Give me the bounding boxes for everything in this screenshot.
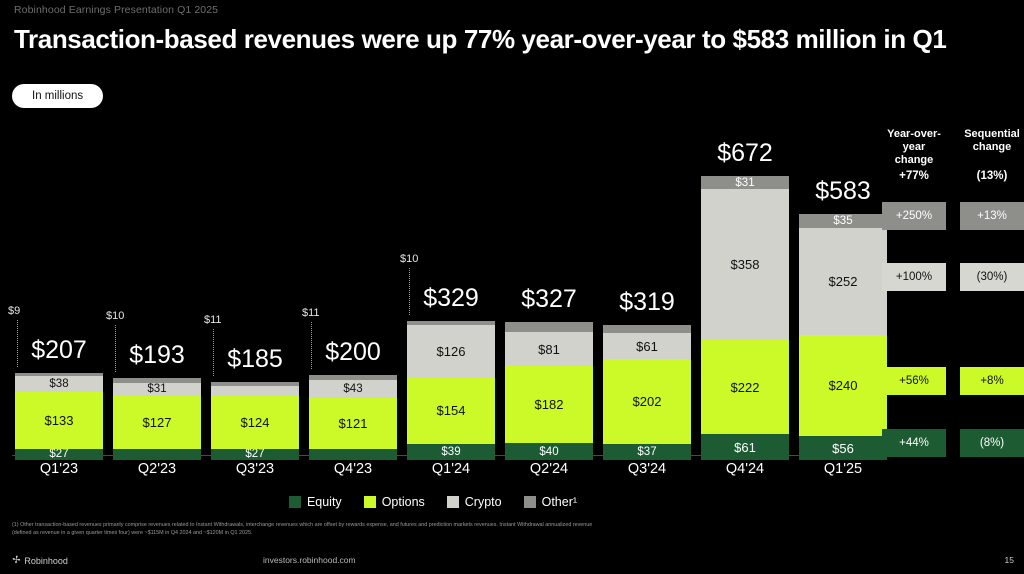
bar-segment-options: $127 <box>113 396 201 450</box>
bar-segment-crypto: $31 <box>113 383 201 396</box>
bar-segment-crypto <box>211 386 299 396</box>
bar-segment-other <box>505 322 593 332</box>
other-segment-callout: $10 <box>400 253 418 265</box>
bar-segment-other: $31 <box>701 176 789 189</box>
footnote: (1) Other transaction-based revenues pri… <box>12 521 602 537</box>
slide-footer: ✢ Robinhood investors.robinhood.com 15 <box>0 552 1024 574</box>
legend-label: Equity <box>307 495 342 509</box>
x-axis-label: Q3'24 <box>628 461 666 477</box>
bar-segment-options: $133 <box>15 392 103 448</box>
legend-swatch-icon <box>524 496 536 508</box>
x-axis-label: Q2'23 <box>138 461 176 477</box>
bar-segment-equity <box>113 449 201 460</box>
bar-segment-other <box>309 375 397 380</box>
bar-total-label: $319 <box>619 288 675 317</box>
bar-segment-equity: $40 <box>505 443 593 460</box>
yoy-total-value: +77% <box>882 170 946 182</box>
bar-segment-equity: $61 <box>701 434 789 460</box>
callout-leader-line <box>17 320 18 367</box>
x-axis-label: Q3'23 <box>236 461 274 477</box>
bar-segment-options: $154 <box>407 378 495 443</box>
stacked-bar: $121$43 <box>309 375 397 460</box>
bar-segment-crypto: $358 <box>701 189 789 340</box>
page-title: Transaction-based revenues were up 77% y… <box>14 24 1004 55</box>
logo-text: Robinhood <box>24 556 68 566</box>
legend-swatch-icon <box>364 496 376 508</box>
x-axis-label: Q4'24 <box>726 461 764 477</box>
bar-segment-equity: $39 <box>407 444 495 460</box>
sequential-change-header: Sequential change <box>960 128 1024 154</box>
other-segment-callout: $11 <box>302 307 320 319</box>
legend-item-crypto: Crypto <box>447 495 502 509</box>
x-axis-label: Q4'23 <box>334 461 372 477</box>
bar-segment-equity: $27 <box>211 449 299 460</box>
bar-group: $121$43 <box>309 115 397 460</box>
other-segment-callout: $10 <box>106 310 124 322</box>
bar-segment-options: $121 <box>309 398 397 449</box>
bar-segment-equity: $27 <box>15 449 103 460</box>
yoy-change-options: +56% <box>882 367 946 395</box>
x-axis-label: Q1'25 <box>824 461 862 477</box>
sequential-change-crypto: (30%) <box>960 263 1024 291</box>
x-axis-label: Q2'24 <box>530 461 568 477</box>
legend-label: Options <box>382 495 425 509</box>
bar-segment-crypto: $38 <box>15 376 103 392</box>
sequential-total-value: (13%) <box>960 170 1024 182</box>
change-columns: Year-over-year change Sequential change … <box>874 128 1024 468</box>
chart-legend: EquityOptionsCryptoOther¹ <box>0 495 866 509</box>
bar-segment-equity: $37 <box>603 444 691 460</box>
stacked-bar: $27$133$38 <box>15 373 103 460</box>
other-segment-callout: $11 <box>204 314 222 326</box>
callout-leader-line <box>409 268 410 315</box>
bar-total-label: $193 <box>129 341 185 370</box>
yoy-change-equity: +44% <box>882 429 946 457</box>
bar-total-label: $329 <box>423 284 479 313</box>
bar-total-label: $185 <box>227 345 283 374</box>
robinhood-logo: ✢ Robinhood <box>12 555 68 566</box>
legend-item-other: Other¹ <box>524 495 577 509</box>
callout-leader-line <box>213 329 214 376</box>
stacked-bar: $127$31 <box>113 378 201 460</box>
yoy-change-other: +250% <box>882 202 946 230</box>
stacked-bar: $40$182$81 <box>505 322 593 460</box>
bar-segment-options: $222 <box>701 340 789 434</box>
bar-segment-options: $182 <box>505 366 593 443</box>
stacked-bar: $27$124 <box>211 382 299 460</box>
bar-segment-other <box>211 382 299 387</box>
yoy-change-crypto: +100% <box>882 263 946 291</box>
bar-segment-other <box>407 321 495 325</box>
page-number: 15 <box>1005 555 1014 565</box>
yoy-change-header: Year-over-year change <box>882 128 946 167</box>
bar-segment-equity <box>309 449 397 460</box>
bar-total-label: $672 <box>717 139 773 168</box>
sequential-change-options: +8% <box>960 367 1024 395</box>
legend-swatch-icon <box>447 496 459 508</box>
stacked-bar-chart: $27$133$38$207Q1'23$127$31$193Q2'23$27$1… <box>0 110 1024 460</box>
stacked-bar: $61$222$358$31 <box>701 176 789 460</box>
bar-segment-crypto: $126 <box>407 325 495 378</box>
stacked-bar: $39$154$126 <box>407 321 495 460</box>
stacked-bar: $37$202$61 <box>603 325 691 460</box>
callout-leader-line <box>115 325 116 372</box>
bar-segment-other <box>113 378 201 382</box>
bar-total-label: $207 <box>31 336 87 365</box>
bar-segment-other <box>603 325 691 333</box>
other-segment-callout: $9 <box>8 305 20 317</box>
bar-total-label: $200 <box>325 338 381 367</box>
feather-icon: ✢ <box>11 554 21 566</box>
bar-segment-crypto: $81 <box>505 332 593 366</box>
legend-label: Other¹ <box>542 495 577 509</box>
bar-total-label: $583 <box>815 177 871 206</box>
legend-item-equity: Equity <box>289 495 342 509</box>
investor-site-url: investors.robinhood.com <box>263 555 356 565</box>
units-pill: In millions <box>12 84 103 108</box>
legend-swatch-icon <box>289 496 301 508</box>
bar-group: $27$124 <box>211 115 299 460</box>
bar-group: $127$31 <box>113 115 201 460</box>
sequential-change-equity: (8%) <box>960 429 1024 457</box>
bar-total-label: $327 <box>521 285 577 314</box>
slide: Robinhood Earnings Presentation Q1 2025 … <box>0 0 1024 574</box>
bar-segment-options: $124 <box>211 396 299 448</box>
legend-item-options: Options <box>364 495 425 509</box>
x-axis-label: Q1'23 <box>40 461 78 477</box>
bar-segment-options: $202 <box>603 359 691 444</box>
callout-leader-line <box>311 322 312 369</box>
sequential-change-other: +13% <box>960 202 1024 230</box>
presentation-eyebrow: Robinhood Earnings Presentation Q1 2025 <box>14 4 218 16</box>
bar-group: $27$133$38 <box>15 115 103 460</box>
bar-segment-crypto: $61 <box>603 333 691 359</box>
legend-label: Crypto <box>465 495 502 509</box>
x-axis-label: Q1'24 <box>432 461 470 477</box>
bar-segment-crypto: $43 <box>309 380 397 398</box>
bar-segment-other <box>15 373 103 377</box>
